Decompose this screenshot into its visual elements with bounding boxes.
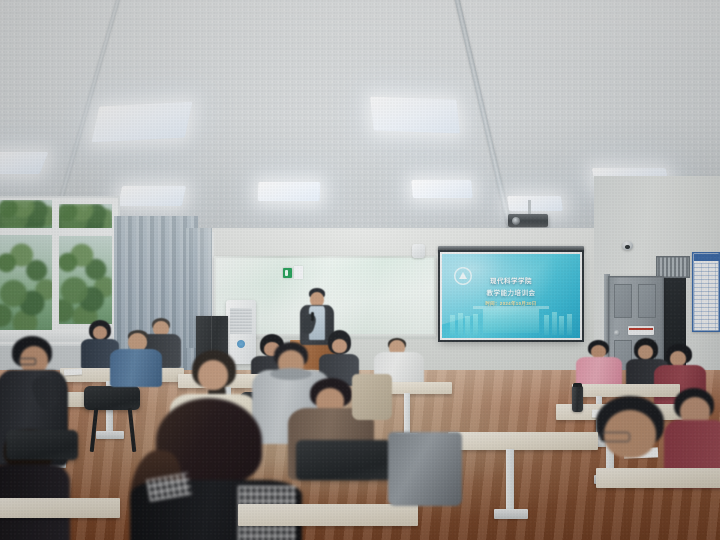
glasses-icon (18, 358, 36, 365)
emergency-exit-sign (283, 268, 292, 278)
ceiling-light-4 (118, 186, 186, 206)
glasses-icon (600, 432, 630, 442)
tote-bag[interactable] (352, 374, 392, 420)
notice-table (694, 263, 718, 330)
door-panel-upper-right (638, 284, 656, 318)
ceiling-light-8 (507, 196, 563, 211)
chair-foreground-center[interactable] (296, 440, 392, 480)
window-mullion-vertical (52, 198, 59, 338)
wall-notice-board (692, 252, 720, 332)
wall-speaker (412, 244, 425, 258)
door-knob[interactable] (614, 330, 620, 336)
slide-building-illustration (448, 297, 575, 336)
attendee-blue-shirt (110, 330, 162, 386)
door-transom-grille (656, 256, 690, 278)
desk-leg (506, 449, 514, 511)
attendee-pink-jacket (575, 340, 623, 388)
security-camera (622, 241, 633, 250)
desk-leg (404, 393, 410, 435)
ceiling-light-5 (258, 182, 321, 201)
window-glass-upper-left (0, 200, 54, 228)
window-glass-lower-left (0, 234, 54, 330)
slide-subtitle: 教学能力培训会 (442, 287, 580, 297)
ceiling-light-6 (411, 180, 473, 198)
ceiling-light-2 (370, 97, 460, 134)
bottle-cap (573, 383, 582, 387)
projection-screen: 现代科学学院 教学能力培训会 时间：2024年10月30日 (440, 252, 582, 340)
desk-right-mid2 (448, 432, 598, 450)
desk-foreground-left (0, 498, 120, 518)
presentation-slide: 现代科学学院 教学能力培训会 时间：2024年10月30日 (442, 254, 580, 338)
chair-foreground-left[interactable] (6, 430, 78, 460)
classroom-photo: 现代科学学院 教学能力培训会 时间：2024年10月30日 (0, 0, 720, 540)
window-mullion-horizontal (0, 228, 116, 235)
window-glass-lower-right (58, 236, 112, 324)
desk-foot (494, 509, 528, 519)
slide-title: 现代科学学院 (442, 275, 580, 285)
notice-header (694, 254, 719, 261)
presenter-microphone (311, 312, 314, 321)
desk-foreground-right (596, 468, 720, 488)
projector-lens (512, 217, 520, 225)
door-sign (628, 326, 654, 335)
window-glass-upper-right (58, 204, 112, 230)
whiteboard-poster (294, 266, 303, 279)
backpack[interactable] (388, 432, 462, 506)
ceiling-light-1 (92, 102, 193, 143)
desk-foreground-center (238, 504, 418, 526)
door-panel-upper-left (614, 284, 632, 318)
